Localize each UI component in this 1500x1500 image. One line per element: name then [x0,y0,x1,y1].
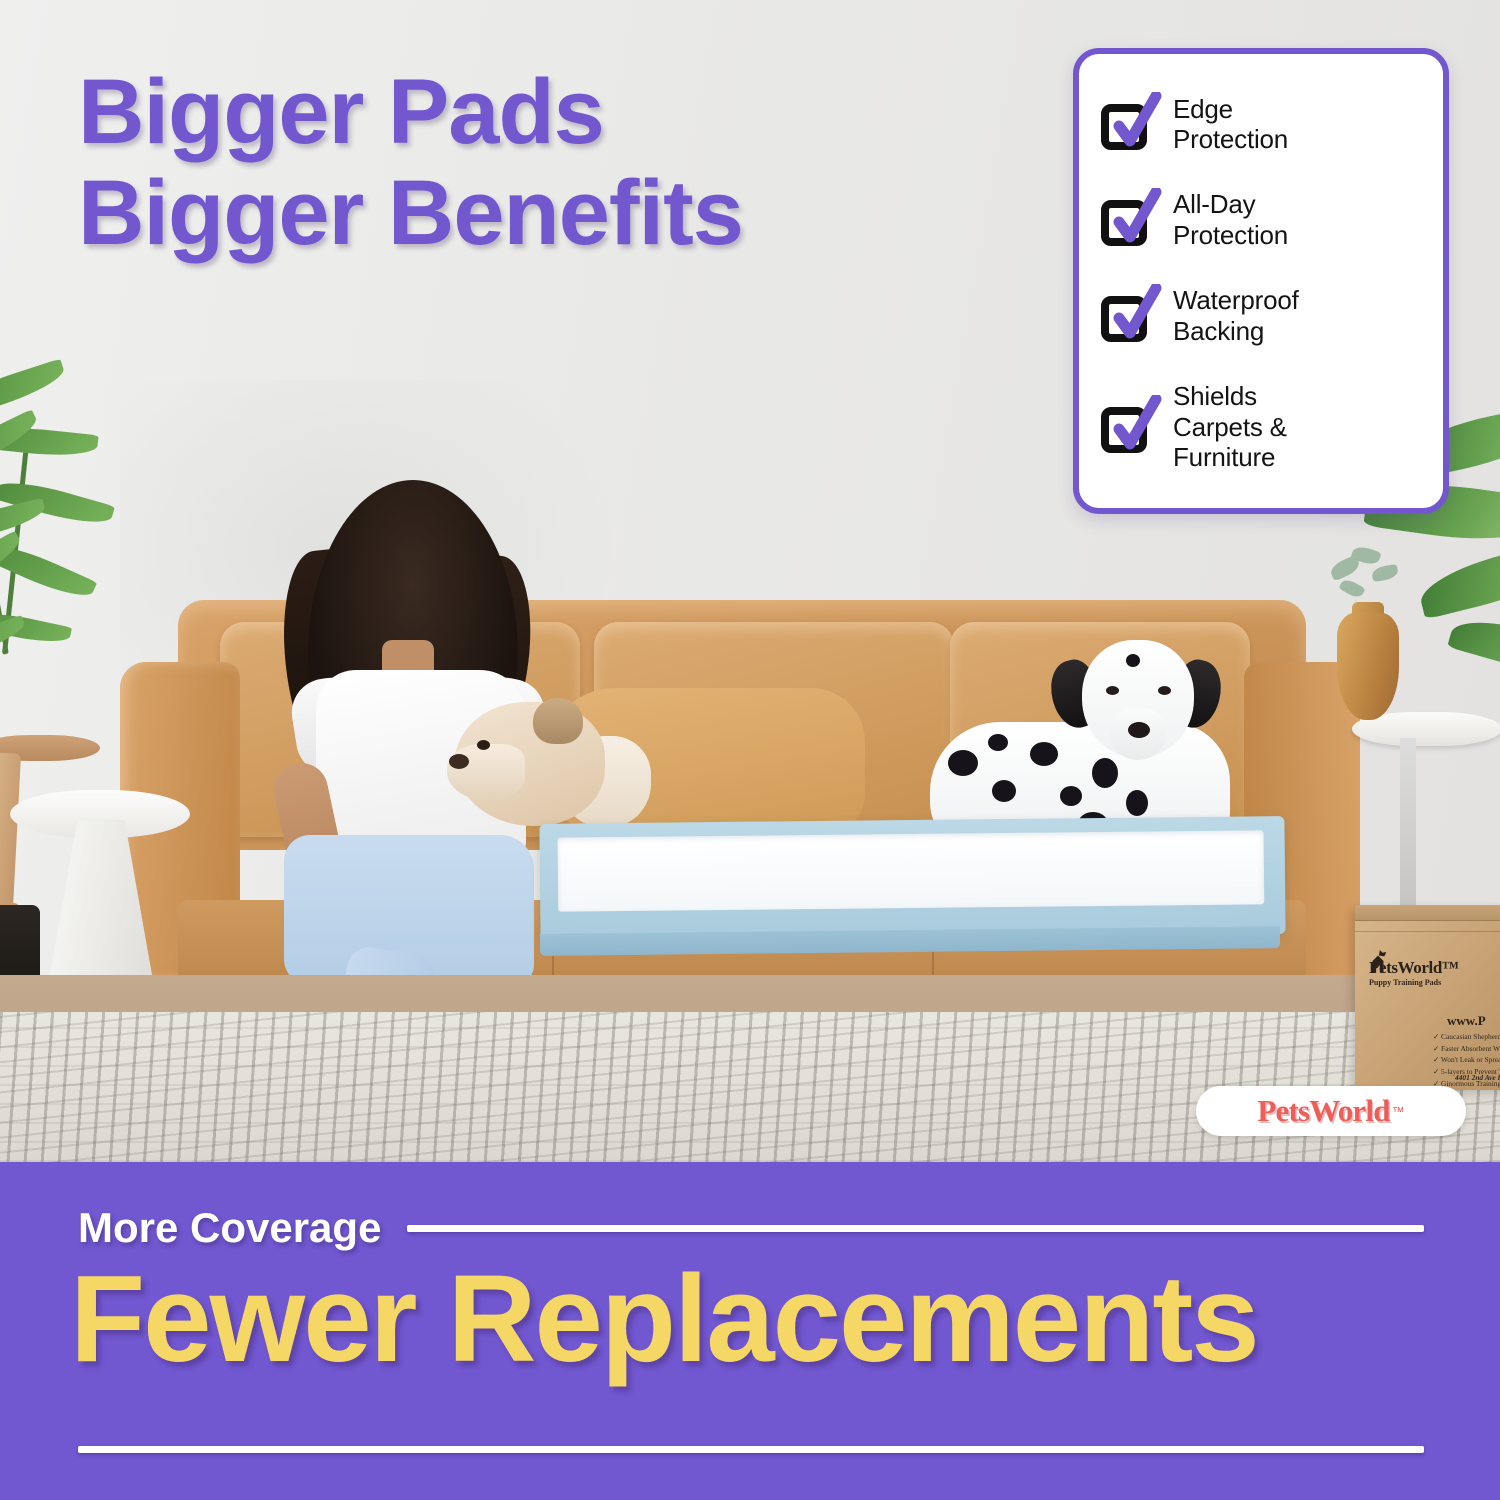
box-bullet: ✓ Faster Absorbent Wid [1433,1043,1500,1055]
checkbox-checked-icon [1101,194,1153,246]
dog-logo-icon [1367,949,1389,973]
feature-label: EdgeProtection [1173,94,1288,155]
bottom-banner: More Coverage Fewer Replacements [0,1162,1500,1500]
feature-label: All-DayProtection [1173,189,1288,250]
box-address: 4401 2nd Ave Bro [1455,1073,1500,1082]
training-pad-surface [558,830,1265,911]
banner-divider-top [407,1225,1424,1232]
training-pad [539,816,1285,942]
trademark-symbol: ™ [1392,1104,1405,1119]
box-subtitle: Puppy Training Pads [1369,978,1500,987]
box-bullet: ✓ Won't Leak or Spread [1433,1054,1500,1066]
checkbox-checked-icon [1101,98,1153,150]
banner-top-row: More Coverage [78,1204,1424,1252]
page-title: Bigger Pads Bigger Benefits [78,62,743,264]
feature-item-edge-protection: EdgeProtection [1101,94,1425,155]
feature-checklist-card: EdgeProtection All-DayProtection Waterpr… [1073,48,1449,514]
feature-item-waterproof-backing: WaterproofBacking [1101,285,1425,346]
checkbox-checked-icon [1101,401,1153,453]
box-bullet: ✓ Caucasian Shepherd's [1433,1031,1500,1043]
feature-item-shields-carpets-furniture: ShieldsCarpets &Furniture [1101,381,1425,472]
banner-divider-bottom [78,1446,1424,1453]
checkbox-checked-icon [1101,290,1153,342]
brand-name: PetsWorld [1257,1093,1389,1129]
banner-big-text: Fewer Replacements [70,1258,1440,1381]
brand-badge: PetsWorld ™ [1196,1086,1466,1136]
product-cardboard-box: PetsWorld™ Puppy Training Pads www.P ✓ C… [1355,905,1500,1090]
feature-item-all-day-protection: All-DayProtection [1101,189,1425,250]
banner-small-text: More Coverage [78,1204,381,1252]
headline-line-1: Bigger Pads [78,62,743,163]
gold-vase [1337,612,1399,720]
box-website: www.P [1447,1013,1486,1029]
feature-label: ShieldsCarpets &Furniture [1173,381,1287,472]
headline-line-2: Bigger Benefits [78,163,743,264]
feature-label: WaterproofBacking [1173,285,1299,346]
